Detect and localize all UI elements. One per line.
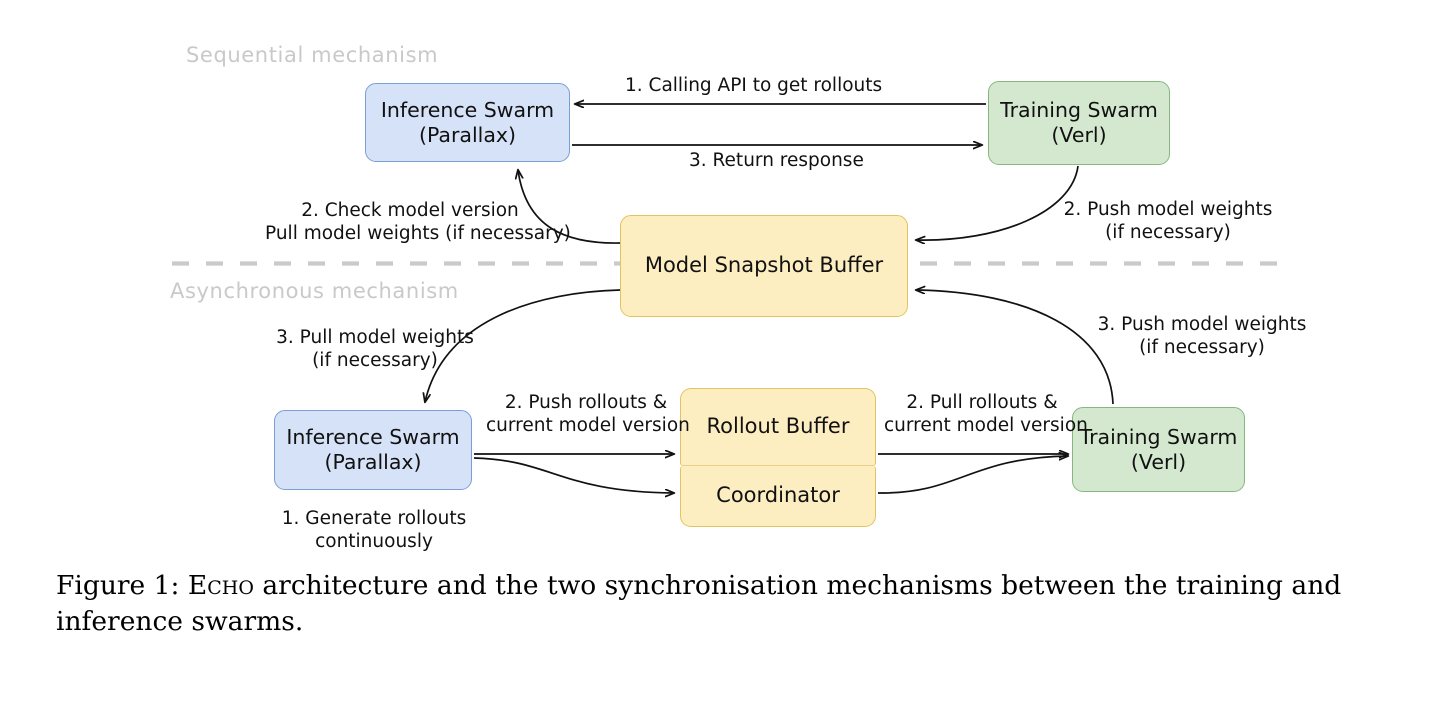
node-line-1: Inference Swarm: [381, 98, 554, 123]
edge-label-check-model-version: 2. Check model version Pull model weight…: [265, 199, 555, 245]
edge-label-line-1: 3. Return response: [689, 149, 864, 172]
edge-label-line-2: continuously: [268, 530, 480, 553]
edge-label-line-1: 2. Push model weights: [1053, 198, 1283, 221]
arrow-push-model-weights-async: [916, 290, 1113, 404]
node-line-2: (Parallax): [419, 123, 516, 148]
edge-label-return-response: 3. Return response: [689, 149, 864, 172]
edge-label-line-1: 3. Pull model weights: [265, 326, 485, 349]
node-line-2: (Verl): [1051, 123, 1106, 148]
edge-label-pull-rollouts: 2. Pull rollouts & current model version: [884, 391, 1080, 437]
edge-label-generate-rollouts: 1. Generate rollouts continuously: [268, 507, 480, 553]
edge-label-line-1: 1. Calling API to get rollouts: [625, 74, 882, 97]
edge-label-line-2: Pull model weights (if necessary): [265, 222, 555, 245]
edge-label-line-2: (if necessary): [1053, 221, 1283, 244]
edge-label-push-rollouts: 2. Push rollouts & current model version: [486, 391, 686, 437]
arrow-push-to-coordinator: [474, 458, 674, 493]
edge-label-pull-model-weights-async: 3. Pull model weights (if necessary): [265, 326, 485, 372]
node-sequential-training-swarm[interactable]: Training Swarm (Verl): [988, 81, 1170, 165]
edge-label-line-2: (if necessary): [265, 349, 485, 372]
caption-prefix: Figure 1:: [56, 570, 179, 601]
arrow-coordinator-to-training: [878, 456, 1068, 493]
edge-label-line-1: 1. Generate rollouts: [268, 507, 480, 530]
edge-label-line-2: (if necessary): [1088, 336, 1316, 359]
edge-label-line-1: 2. Check model version: [265, 199, 555, 222]
edge-label-line-2: current model version: [486, 414, 686, 437]
caption-smallcaps-echo: Echo: [188, 570, 254, 601]
edge-label-push-model-weights-async: 3. Push model weights (if necessary): [1088, 313, 1316, 359]
edge-label-line-2: current model version: [884, 414, 1080, 437]
node-sequential-inference-swarm[interactable]: Inference Swarm (Parallax): [365, 83, 570, 162]
edge-label-line-1: 3. Push model weights: [1088, 313, 1316, 336]
edge-label-push-model-weights-sequential: 2. Push model weights (if necessary): [1053, 198, 1283, 244]
node-async-training-swarm[interactable]: Training Swarm (Verl): [1072, 407, 1245, 492]
node-line-1: Inference Swarm: [286, 425, 459, 450]
node-line-1: Model Snapshot Buffer: [645, 253, 883, 279]
section-label-sequential: Sequential mechanism: [186, 43, 438, 67]
edge-label-line-1: 2. Push rollouts &: [486, 391, 686, 414]
node-line-1: Rollout Buffer: [707, 414, 850, 440]
node-rollout-buffer[interactable]: Rollout Buffer: [680, 388, 876, 466]
node-coordinator[interactable]: Coordinator: [680, 466, 876, 527]
edge-label-calling-api: 1. Calling API to get rollouts: [625, 74, 882, 97]
edge-label-line-1: 2. Pull rollouts &: [884, 391, 1080, 414]
figure-canvas: Sequential mechanism Asynchronous mechan…: [0, 0, 1456, 703]
node-line-1: Coordinator: [716, 483, 840, 509]
section-label-asynchronous: Asynchronous mechanism: [170, 279, 459, 303]
node-line-1: Training Swarm: [1000, 98, 1158, 123]
node-line-1: Training Swarm: [1080, 425, 1238, 450]
figure-caption: Figure 1: Echo architecture and the two …: [56, 568, 1400, 639]
node-async-inference-swarm[interactable]: Inference Swarm (Parallax): [274, 410, 472, 490]
node-model-snapshot-buffer[interactable]: Model Snapshot Buffer: [620, 215, 908, 317]
node-line-2: (Parallax): [324, 450, 421, 475]
node-line-2: (Verl): [1131, 450, 1186, 475]
